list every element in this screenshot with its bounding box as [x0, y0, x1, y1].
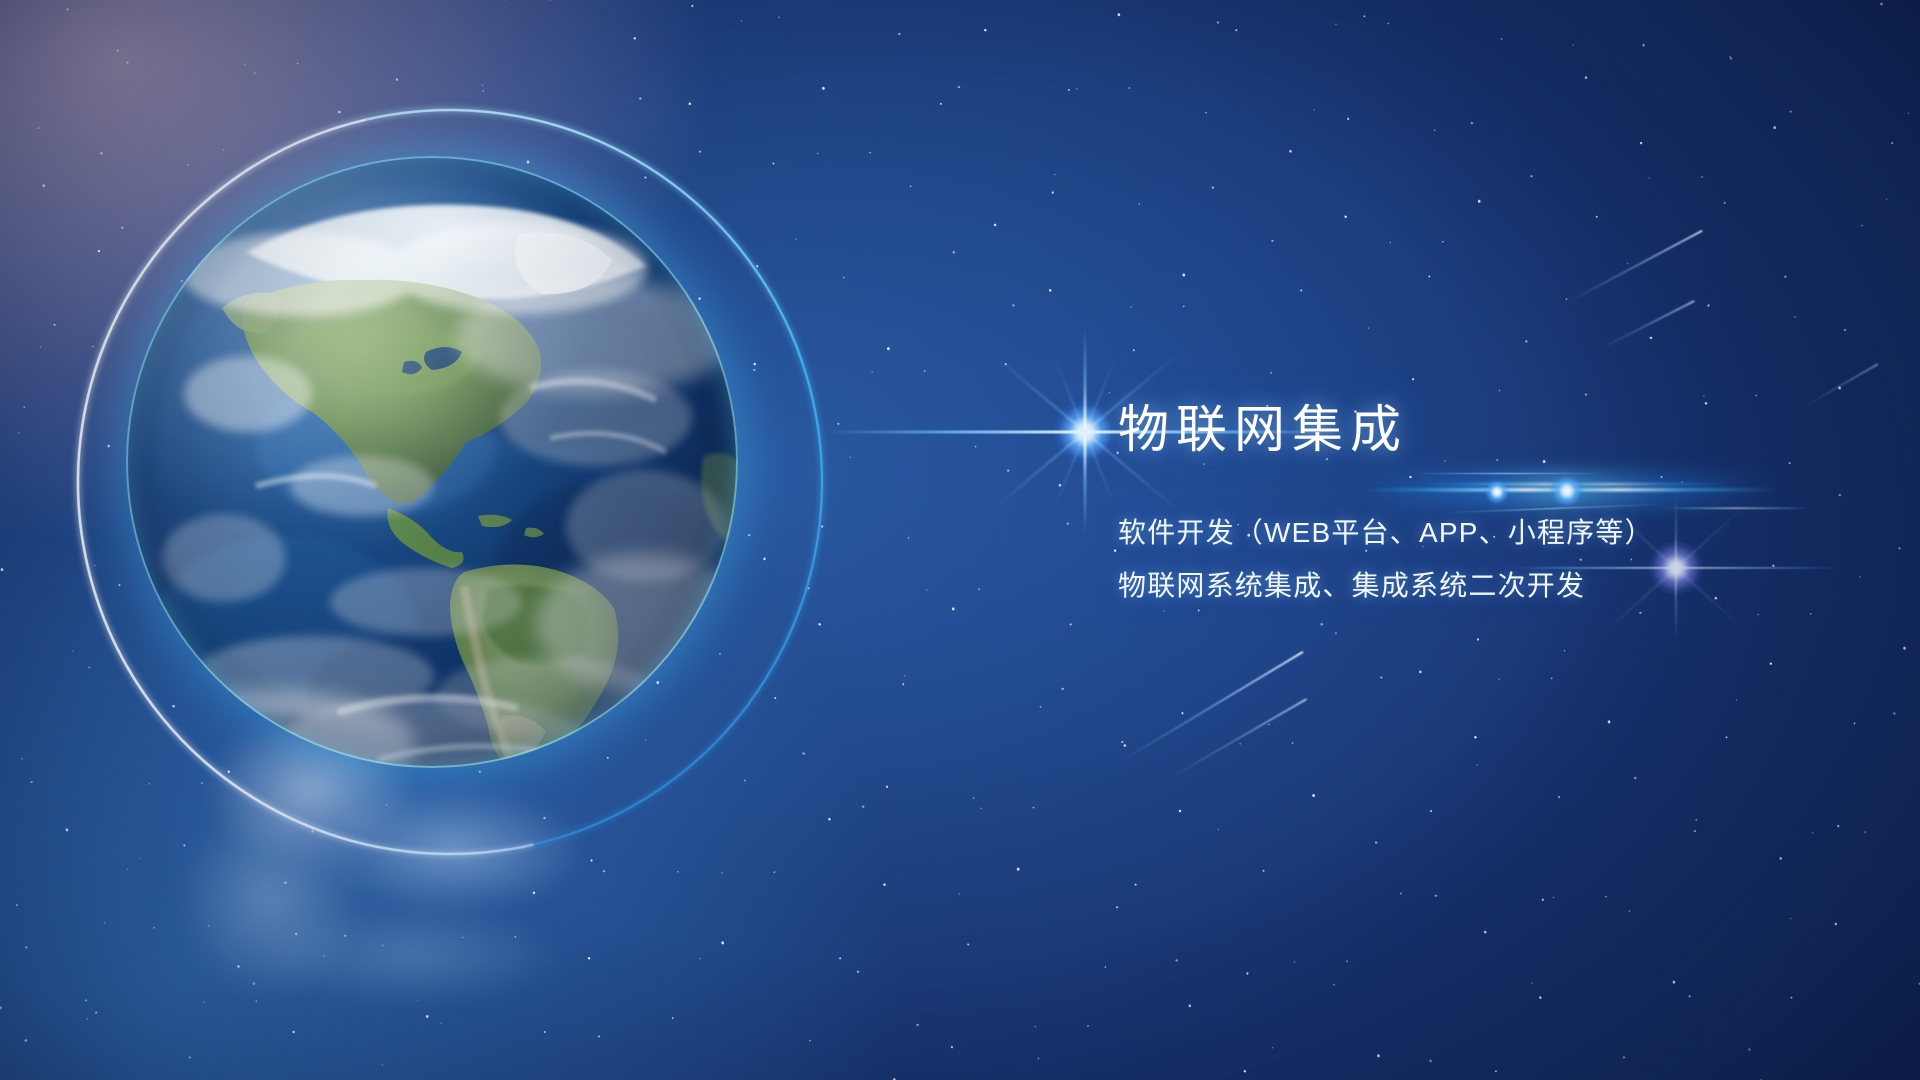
meteor-lower-mid — [1117, 651, 1303, 764]
meteor-lower-mid-2 — [1168, 698, 1307, 779]
meteor-top-right-2 — [1600, 300, 1695, 349]
earth-globe — [126, 156, 738, 768]
page-title: 物联网集成 — [1118, 404, 1838, 455]
hero-text-block: 物联网集成 软件开发（WEB平台、APP、小程序等） 物联网系统集成、集成系统二… — [1118, 404, 1838, 600]
hero-subtitle-line-1: 软件开发（WEB平台、APP、小程序等） — [1118, 519, 1838, 547]
meteor-right-edge — [1800, 363, 1879, 409]
globe-sphere — [126, 156, 738, 768]
hero-banner: 物联网集成 软件开发（WEB平台、APP、小程序等） 物联网系统集成、集成系统二… — [0, 0, 1920, 1080]
meteor-top-right — [1570, 230, 1703, 302]
hero-subtitle-line-2: 物联网系统集成、集成系统二次开发 — [1118, 572, 1838, 600]
